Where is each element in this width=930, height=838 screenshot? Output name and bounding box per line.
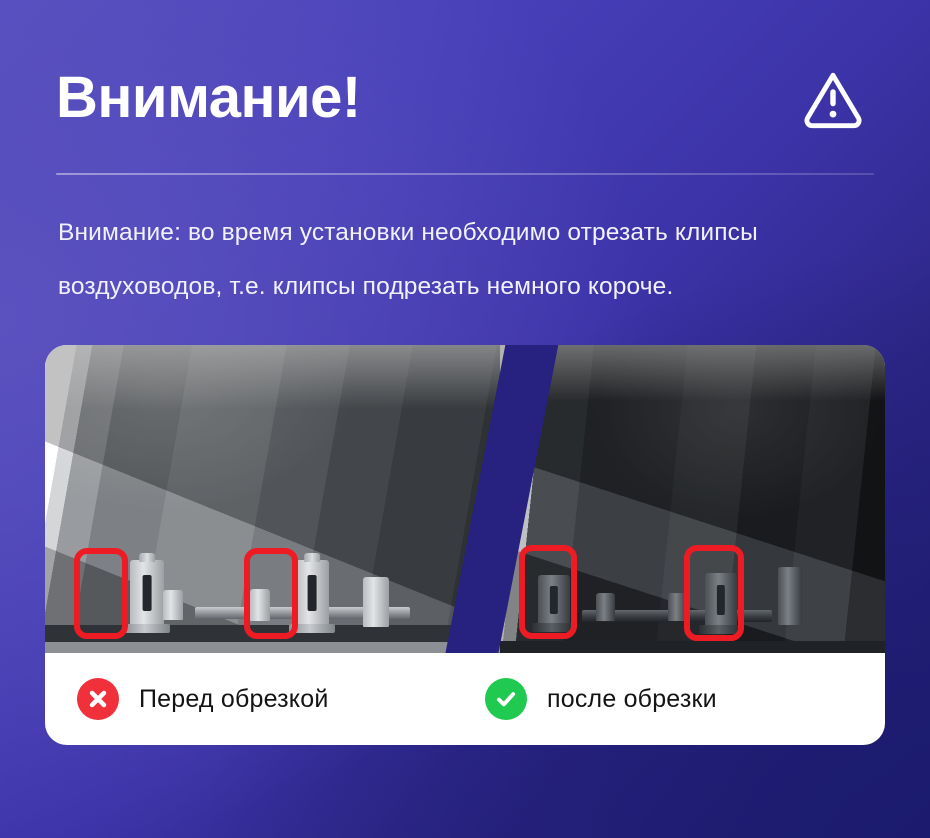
before-clip-left xyxy=(130,560,164,626)
clip-slot xyxy=(143,575,152,612)
before-highlight-box-left xyxy=(74,548,128,639)
after-clip-small-a xyxy=(596,593,615,621)
clip-nub xyxy=(304,553,320,562)
header-divider xyxy=(56,173,874,175)
before-clip-far-right xyxy=(363,577,389,627)
after-highlight-box-right xyxy=(684,545,744,641)
poster-canvas: Внимание! Внимание: во время установки н… xyxy=(0,0,930,838)
warning-triangle-icon xyxy=(802,67,864,129)
comparison-card: VS Перед обрезкой после обрезки xyxy=(45,345,885,745)
caption-bar: Перед обрезкой после обрезки xyxy=(45,653,885,745)
before-clip-small-a xyxy=(163,590,183,620)
cross-circle-icon xyxy=(77,678,119,720)
before-clip-right xyxy=(295,560,329,626)
clip-slot xyxy=(308,575,317,612)
notice-paragraph: Внимание: во время установки необходимо … xyxy=(58,206,894,314)
header: Внимание! xyxy=(56,52,890,144)
clip-nub xyxy=(139,553,155,562)
clip-foot xyxy=(124,624,170,633)
after-clip-far-right xyxy=(778,567,802,625)
after-caption-label: после обрезки xyxy=(547,685,717,714)
before-caption-group: Перед обрезкой xyxy=(77,653,329,745)
page-title: Внимание! xyxy=(56,69,361,127)
after-highlight-box-left xyxy=(519,545,577,639)
check-circle-icon xyxy=(485,678,527,720)
after-caption-group: после обрезки xyxy=(485,653,717,745)
before-caption-label: Перед обрезкой xyxy=(139,685,329,714)
before-highlight-box-right xyxy=(244,548,298,639)
